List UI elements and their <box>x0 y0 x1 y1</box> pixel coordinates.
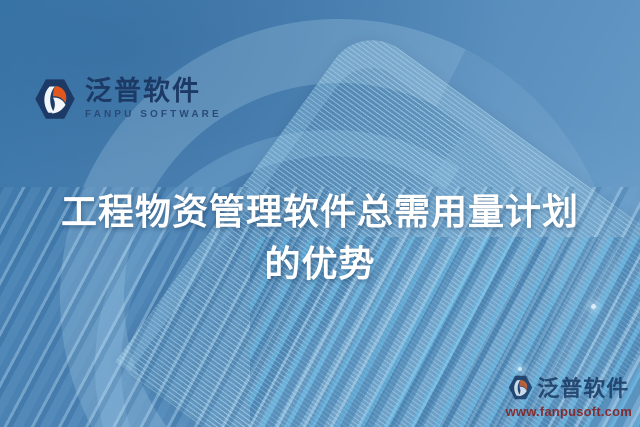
page-title-line-1: 工程物资管理软件总需用量计划 <box>22 186 618 238</box>
page-title: 工程物资管理软件总需用量计划 的优势 <box>0 186 640 290</box>
brand-name-en: FANPU SOFTWARE <box>85 110 222 120</box>
fanpu-hexagon-logo-icon <box>34 78 76 120</box>
watermark-name-cn: 泛普软件 <box>537 371 629 403</box>
brand-name-cn: 泛普软件 <box>85 78 222 105</box>
promo-banner: 泛普软件 FANPU SOFTWARE 工程物资管理软件总需用量计划 的优势 泛… <box>0 0 640 427</box>
fanpu-hexagon-logo-icon <box>508 375 533 400</box>
watermark-url: www.fanpusoft.com <box>506 404 632 419</box>
watermark-logo-row: 泛普软件 <box>508 371 629 403</box>
page-title-line-2: 的优势 <box>22 238 618 290</box>
brand-logo: 泛普软件 FANPU SOFTWARE <box>34 78 222 120</box>
watermark: 泛普软件 www.fanpusoft.com <box>506 371 632 419</box>
brand-wordmark: 泛普软件 FANPU SOFTWARE <box>85 78 222 120</box>
